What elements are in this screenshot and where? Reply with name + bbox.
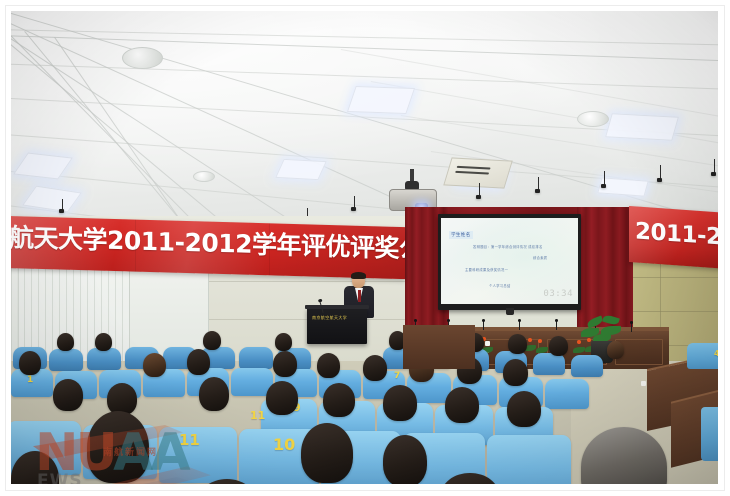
conference-hall-scene: 学生姓名 答辩题目：第一学年综合测评情况 成绩排名 主要科研成果及获奖情况一 个… xyxy=(11,11,718,484)
audience-head xyxy=(323,383,355,417)
audience-head xyxy=(107,383,137,415)
audience-head xyxy=(203,331,221,350)
audience-head xyxy=(53,379,83,411)
audience-head xyxy=(503,359,528,386)
vent-slat xyxy=(457,166,491,170)
secondary-banner: 2011-201 xyxy=(629,206,718,270)
audience-head xyxy=(199,377,229,411)
spotlight-icon xyxy=(351,196,356,207)
audience-head xyxy=(187,349,210,375)
lectern-top xyxy=(305,305,369,309)
audience-head xyxy=(266,381,298,415)
projection-screen: 学生姓名 答辩题目：第一学年综合测评情况 成绩排名 主要科研成果及获奖情况一 个… xyxy=(438,214,581,310)
flower-bud xyxy=(528,338,532,342)
lectern-label: 南京航空航天大学 xyxy=(312,315,347,321)
audience-head xyxy=(275,333,292,351)
audience-chair xyxy=(87,348,121,370)
ceiling-speaker-icon xyxy=(577,111,609,127)
ceiling-light-panel xyxy=(275,159,327,180)
ceiling-speaker-icon xyxy=(193,171,215,182)
audience-chair xyxy=(487,435,571,484)
table-microphone-icon xyxy=(519,321,520,330)
ceiling-light-panel xyxy=(605,113,679,141)
spotlight-icon xyxy=(711,159,716,172)
banner-fold xyxy=(135,220,136,272)
flower-bud xyxy=(538,339,542,343)
audience-chair xyxy=(49,349,83,371)
photograph: 学生姓名 答辩题目：第一学年综合测评情况 成绩排名 主要科研成果及获奖情况一 个… xyxy=(11,11,718,484)
audience-head xyxy=(301,423,353,483)
table-microphone-icon xyxy=(556,321,557,330)
stage-lectern-base xyxy=(403,325,475,369)
plant-leaf xyxy=(602,314,620,327)
ceiling-speaker-icon xyxy=(122,47,163,69)
audience-chair xyxy=(571,355,603,377)
photo-frame: 学生姓名 答辩题目：第一学年综合测评情况 成绩排名 主要科研成果及获奖情况一 个… xyxy=(0,0,730,496)
seat-number: 7 xyxy=(394,371,400,381)
water-cup xyxy=(641,381,646,386)
screen-roller xyxy=(506,308,514,315)
spotlight-icon xyxy=(535,177,540,189)
audience-head xyxy=(87,411,149,483)
audience-head xyxy=(607,341,624,359)
audience-head xyxy=(383,385,417,421)
seat-number: 10 xyxy=(273,435,295,454)
presenter-hair xyxy=(351,272,366,279)
spotlight-icon xyxy=(476,183,481,195)
table-microphone-icon xyxy=(631,323,632,332)
lectern: 南京航空航天大学 xyxy=(307,308,367,344)
ceiling xyxy=(11,11,718,226)
potted-plant-icon xyxy=(579,314,625,344)
audience-chair xyxy=(239,347,273,369)
screen-surface: 学生姓名 答辩题目：第一学年综合测评情况 成绩排名 主要科研成果及获奖情况一 个… xyxy=(441,218,578,304)
audience-head xyxy=(508,334,527,354)
slide-line-2: 主要科研成果及获奖情况一 xyxy=(465,267,508,272)
audience-chair xyxy=(545,379,589,409)
presenter-tie xyxy=(358,290,361,302)
seat-number: 1 xyxy=(27,375,33,385)
audience-head xyxy=(549,336,568,356)
side-chair xyxy=(701,407,718,461)
audience-head xyxy=(143,353,166,377)
audience-head xyxy=(19,351,41,375)
ceiling-light-panel xyxy=(347,86,415,114)
audience-head xyxy=(317,353,340,378)
audience-head xyxy=(507,391,541,427)
table-microphone-icon xyxy=(483,321,484,330)
spotlight-icon xyxy=(601,171,606,184)
slide-line-3: 个人学习总结 xyxy=(489,283,511,288)
presentation-timer: 03:34 xyxy=(543,289,573,299)
seat-number: 11 xyxy=(179,431,200,449)
audience-head xyxy=(445,387,479,423)
audience-head xyxy=(95,333,112,351)
plant-leaf xyxy=(586,316,604,329)
slide-line-4: 综合素质 xyxy=(533,255,547,260)
vent-slat xyxy=(455,171,489,175)
seat-number: 11 xyxy=(250,409,265,422)
audience-head xyxy=(273,351,297,377)
leaf xyxy=(573,347,585,353)
seat-number: 4 xyxy=(714,349,718,358)
audience-chair xyxy=(533,353,565,375)
audience-head xyxy=(57,333,74,351)
spotlight-icon xyxy=(657,165,662,178)
event-banner: 航天大学2011-2012学年评优评奖公开答辩 xyxy=(11,216,405,279)
audience-head xyxy=(383,435,427,484)
wall-seam xyxy=(207,281,423,282)
slide-title: 学生姓名 xyxy=(449,231,473,239)
banner-fold xyxy=(269,223,270,275)
spotlight-icon xyxy=(59,199,64,209)
audience-head xyxy=(363,355,387,381)
slide-line-1: 答辩题目：第一学年综合测评情况 成绩排名 xyxy=(473,244,543,249)
